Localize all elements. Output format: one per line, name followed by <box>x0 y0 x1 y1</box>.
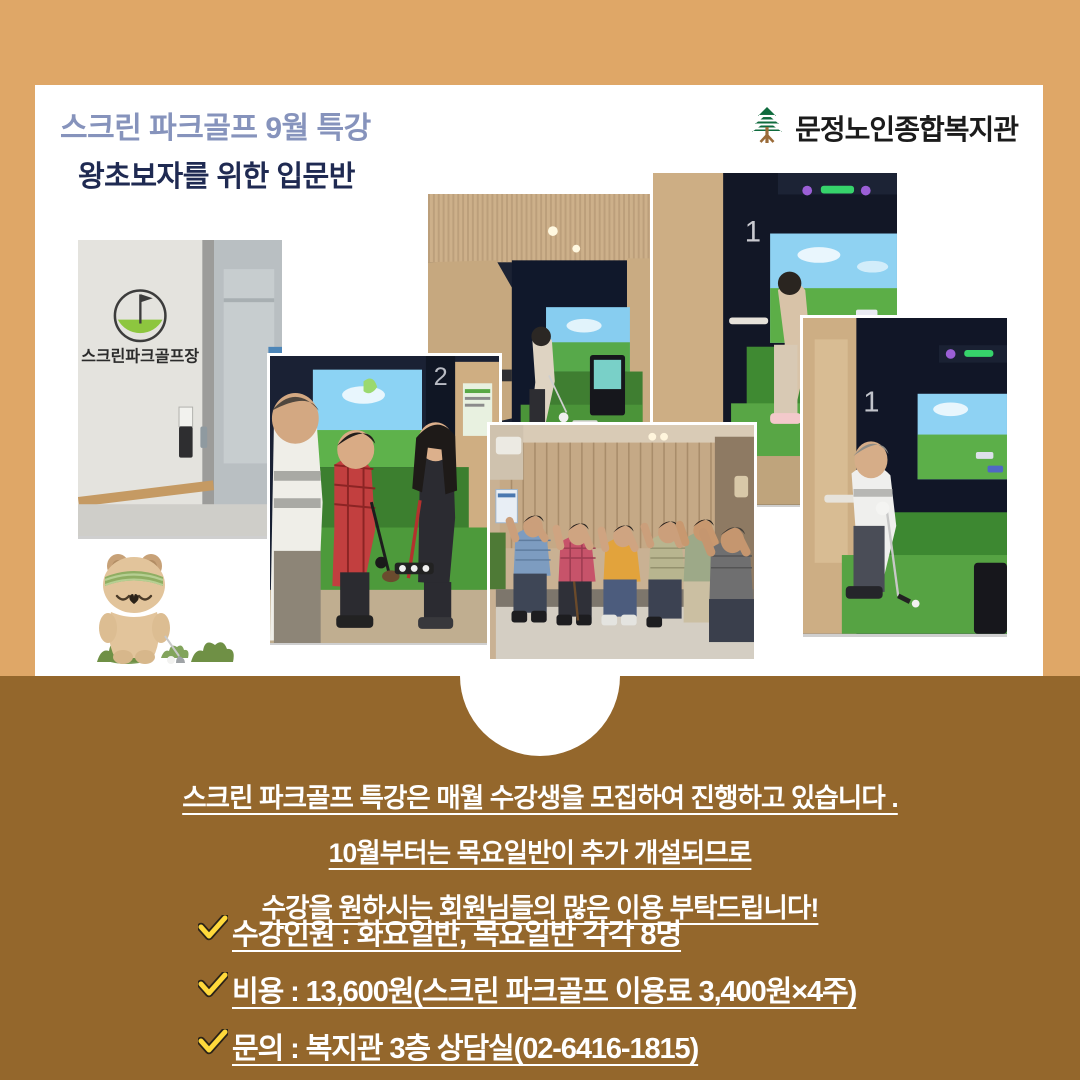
lesson-group-photo: 2 <box>267 353 502 648</box>
detail-text-fee: 비용 : 13,600원(스크린 파크골프 이용료 3,400원×4주) <box>232 968 856 1010</box>
page-title-secondary: 왕초보자를 위한 입문반 <box>78 153 371 195</box>
svg-text:1: 1 <box>745 216 761 248</box>
bottom-text-panel: 스크린 파크골프 특강은 매월 수강생을 모집하여 진행하고 있습니다 . 10… <box>0 676 1080 1080</box>
svg-text:2: 2 <box>434 363 448 391</box>
svg-text:1: 1 <box>863 386 879 418</box>
door-signage-photo: 스크린파크골프장 <box>75 237 285 542</box>
white-content-card: 스크린 파크골프 9월 특강 왕초보자를 위한 입문반 <box>35 85 1043 676</box>
organization-logo: 문정노인종합복지관 <box>748 105 1018 150</box>
bear-golfer-mascot <box>75 540 240 670</box>
body-line-2: 10월부터는 목요일반이 추가 개설되므로 <box>0 831 1080 870</box>
details-list: 수강인원 : 화요일반, 목요일반 각각 8명 비용 : 13,600원(스크린… <box>198 911 998 1080</box>
check-icon <box>198 915 228 946</box>
bay1-senior-swing-photo: 1 <box>800 315 1010 640</box>
poster-root: 스크린 파크골프 9월 특강 왕초보자를 위한 입문반 <box>0 0 1080 1080</box>
svg-text:스크린파크골프장: 스크린파크골프장 <box>81 347 199 365</box>
page-title-primary: 스크린 파크골프 9월 특강 <box>60 103 371 147</box>
body-line-1: 스크린 파크골프 특강은 매월 수강생을 모집하여 진행하고 있습니다 . <box>0 776 1080 815</box>
list-item: 문의 : 복지관 3층 상담실(02-6416-1815) <box>198 1025 998 1067</box>
check-icon <box>198 1029 228 1060</box>
title-block: 스크린 파크골프 9월 특강 왕초보자를 위한 입문반 <box>60 103 371 195</box>
list-item: 비용 : 13,600원(스크린 파크골프 이용료 3,400원×4주) <box>198 968 998 1010</box>
pine-tree-icon <box>748 105 786 150</box>
check-icon <box>198 972 228 1003</box>
detail-text-contact: 문의 : 복지관 3층 상담실(02-6416-1815) <box>232 1025 698 1067</box>
organization-name: 문정노인종합복지관 <box>795 108 1018 148</box>
detail-text-enrollment: 수강인원 : 화요일반, 목요일반 각각 8명 <box>232 911 681 953</box>
participants-bench-photo <box>487 422 757 662</box>
list-item: 수강인원 : 화요일반, 목요일반 각각 8명 <box>198 911 998 953</box>
